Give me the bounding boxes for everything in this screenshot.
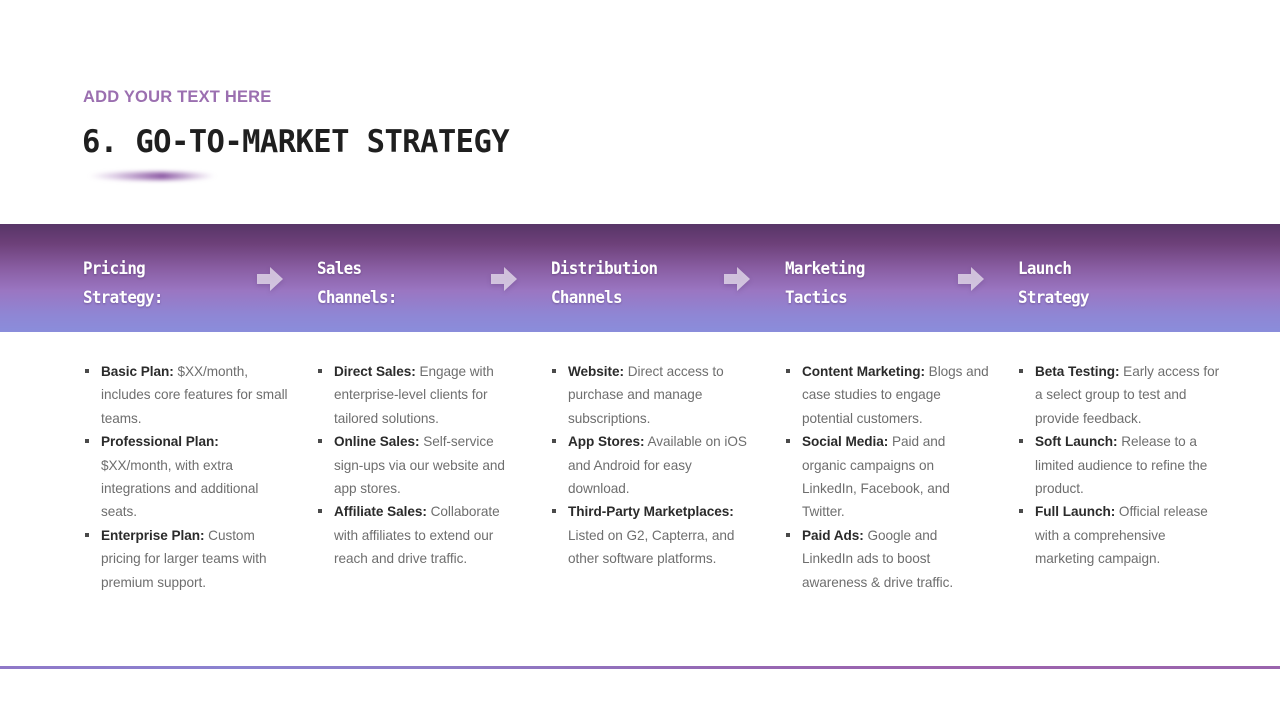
list-item: Direct Sales: Engage with enterprise-lev… [318, 360, 522, 430]
content-column-launch-strategy: Beta Testing: Early access for a select … [1019, 360, 1223, 571]
title-underline-swoosh [88, 172, 216, 180]
square-bullet-icon [552, 439, 556, 443]
list-item-label: Website: [568, 364, 624, 379]
square-bullet-icon [1019, 509, 1023, 513]
square-bullet-icon [318, 439, 322, 443]
list-item-label: Professional Plan: [101, 434, 219, 449]
list-item-label: Paid Ads: [802, 528, 864, 543]
list-item: Beta Testing: Early access for a select … [1019, 360, 1223, 430]
band-label-line2: Channels: [317, 283, 480, 312]
band-label-line1: Marketing [785, 254, 948, 283]
band-label-line2: Strategy [1018, 283, 1181, 312]
list-item-label: Full Launch: [1035, 504, 1115, 519]
list-item-label: Direct Sales: [334, 364, 416, 379]
list-item-text: Listed on G2, Capterra, and other softwa… [568, 528, 734, 566]
band-column-sales-channels: Sales Channels: [317, 254, 480, 312]
list-item-text: $XX/month, with extra integrations and a… [101, 458, 258, 520]
list-item: Third-Party Marketplaces: Listed on G2, … [552, 500, 756, 570]
list-item-label: Basic Plan: [101, 364, 174, 379]
square-bullet-icon [85, 369, 89, 373]
right-arrow-icon [489, 264, 519, 294]
list-item: Soft Launch: Release to a limited audien… [1019, 430, 1223, 500]
list-item-label: Beta Testing: [1035, 364, 1119, 379]
band-label-line2: Tactics [785, 283, 948, 312]
right-arrow-icon [956, 264, 986, 294]
square-bullet-icon [1019, 439, 1023, 443]
list-item-label: Online Sales: [334, 434, 419, 449]
page-title: 6. GO-TO-MARKET STRATEGY [82, 124, 509, 160]
square-bullet-icon [786, 439, 790, 443]
list-item: Online Sales: Self-service sign-ups via … [318, 430, 522, 500]
list-item: Full Launch: Official release with a com… [1019, 500, 1223, 570]
list-item: Website: Direct access to purchase and m… [552, 360, 756, 430]
list-item-label: Third-Party Marketplaces: [568, 504, 734, 519]
band-label-line1: Launch [1018, 254, 1181, 283]
content-column-pricing-strategy: Basic Plan: $XX/month, includes core fea… [85, 360, 289, 594]
band-label-line1: Sales [317, 254, 480, 283]
list-item: Professional Plan: $XX/month, with extra… [85, 430, 289, 524]
right-arrow-icon [255, 264, 285, 294]
square-bullet-icon [318, 369, 322, 373]
band-column-distribution-channels: Distribution Channels [551, 254, 714, 312]
band-label-line1: Distribution [551, 254, 714, 283]
square-bullet-icon [552, 509, 556, 513]
right-arrow-icon [722, 264, 752, 294]
list-item: Basic Plan: $XX/month, includes core fea… [85, 360, 289, 430]
list-item-label: Social Media: [802, 434, 888, 449]
list-item: Affiliate Sales: Collaborate with affili… [318, 500, 522, 570]
content-column-marketing-tactics: Content Marketing: Blogs and case studie… [786, 360, 990, 594]
list-item-label: Affiliate Sales: [334, 504, 427, 519]
list-item: Paid Ads: Google and LinkedIn ads to boo… [786, 524, 990, 594]
band-column-launch-strategy: Launch Strategy [1018, 254, 1181, 312]
square-bullet-icon [85, 533, 89, 537]
list-item: Content Marketing: Blogs and case studie… [786, 360, 990, 430]
slide-canvas: ADD YOUR TEXT HERE 6. GO-TO-MARKET STRAT… [0, 0, 1280, 720]
band-label-line1: Pricing [83, 254, 246, 283]
list-item: Social Media: Paid and organic campaigns… [786, 430, 990, 524]
stage-header-band: Pricing Strategy: Sales Channels: Distri… [0, 224, 1280, 332]
band-label-line2: Channels [551, 283, 714, 312]
content-column-distribution-channels: Website: Direct access to purchase and m… [552, 360, 756, 571]
square-bullet-icon [786, 533, 790, 537]
content-column-sales-channels: Direct Sales: Engage with enterprise-lev… [318, 360, 522, 571]
square-bullet-icon [318, 509, 322, 513]
band-column-pricing-strategy: Pricing Strategy: [83, 254, 246, 312]
band-column-marketing-tactics: Marketing Tactics [785, 254, 948, 312]
list-item-label: Content Marketing: [802, 364, 925, 379]
square-bullet-icon [1019, 369, 1023, 373]
list-item-label: App Stores: [568, 434, 645, 449]
list-item: App Stores: Available on iOS and Android… [552, 430, 756, 500]
footer-divider [0, 666, 1280, 669]
list-item-label: Enterprise Plan: [101, 528, 204, 543]
square-bullet-icon [552, 369, 556, 373]
list-item-label: Soft Launch: [1035, 434, 1117, 449]
square-bullet-icon [786, 369, 790, 373]
eyebrow-text: ADD YOUR TEXT HERE [83, 88, 271, 107]
list-item: Enterprise Plan: Custom pricing for larg… [85, 524, 289, 594]
band-label-line2: Strategy: [83, 283, 246, 312]
square-bullet-icon [85, 439, 89, 443]
